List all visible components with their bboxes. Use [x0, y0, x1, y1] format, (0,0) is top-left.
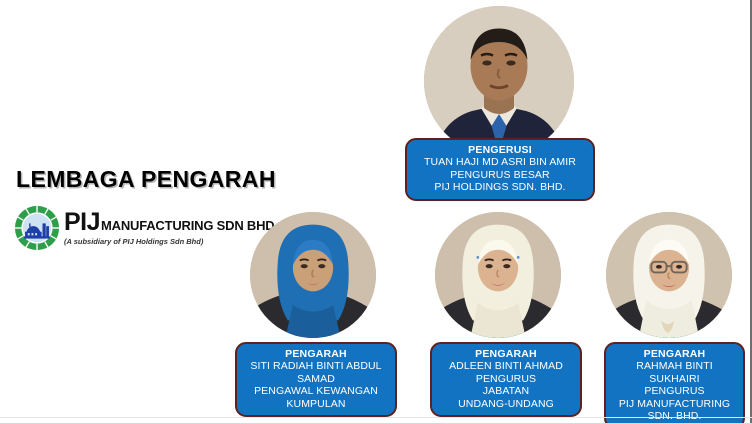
card-role: PENGARAH: [612, 348, 737, 360]
slide-bottom-rule: [0, 417, 752, 418]
card-line: PENGURUS: [438, 373, 574, 385]
card-line: TUAN HAJI MD ASRI BIN AMIR: [413, 156, 587, 168]
logo-brand: PIJ: [64, 210, 100, 235]
pij-gear-factory-logo: [14, 205, 60, 251]
card-line: SITI RADIAH BINTI ABDUL: [243, 360, 389, 372]
portrait-director-1: [250, 212, 376, 338]
card-director-2[interactable]: PENGARAH ADLEEN BINTI AHMAD PENGURUS JAB…: [430, 342, 582, 417]
logo-wordmark: PIJ MANUFACTURING SDN BHD (A subsidiary …: [64, 210, 275, 246]
card-director-3[interactable]: PENGARAH RAHMAH BINTI SUKHAIRI PENGURUS …: [604, 342, 745, 424]
card-chairman[interactable]: PENGERUSI TUAN HAJI MD ASRI BIN AMIR PEN…: [405, 138, 595, 201]
portrait-director-3: [606, 212, 732, 338]
card-line: SAMAD: [243, 373, 389, 385]
card-line: ADLEEN BINTI AHMAD: [438, 360, 574, 372]
card-line: PIJ HOLDINGS SDN. BHD.: [413, 181, 587, 193]
org-chart-slide: LEMBAGA PENGARAH: [0, 0, 752, 424]
card-line: JABATAN: [438, 385, 574, 397]
card-line: KUMPULAN: [243, 398, 389, 410]
card-role: PENGERUSI: [413, 144, 587, 156]
page-title: LEMBAGA PENGARAH: [16, 166, 276, 193]
card-line: UNDANG-UNDANG: [438, 398, 574, 410]
card-role: PENGARAH: [243, 348, 389, 360]
card-line: PENGURUS BESAR: [413, 169, 587, 181]
card-line: PENGAWAL KEWANGAN: [243, 385, 389, 397]
card-role: PENGARAH: [438, 348, 574, 360]
card-line: PIJ MANUFACTURING: [612, 398, 737, 410]
logo-brand-suffix: MANUFACTURING SDN BHD: [101, 219, 274, 232]
card-director-1[interactable]: PENGARAH SITI RADIAH BINTI ABDUL SAMAD P…: [235, 342, 397, 417]
card-line: RAHMAH BINTI SUKHAIRI: [612, 360, 737, 385]
portrait-director-2: [435, 212, 561, 338]
logo-subtitle: (A subsidiary of PIJ Holdings Sdn Bhd): [64, 238, 275, 246]
portrait-chairman: [424, 6, 574, 156]
card-line: PENGURUS: [612, 385, 737, 397]
company-logo-lockup: PIJ MANUFACTURING SDN BHD (A subsidiary …: [14, 205, 275, 251]
